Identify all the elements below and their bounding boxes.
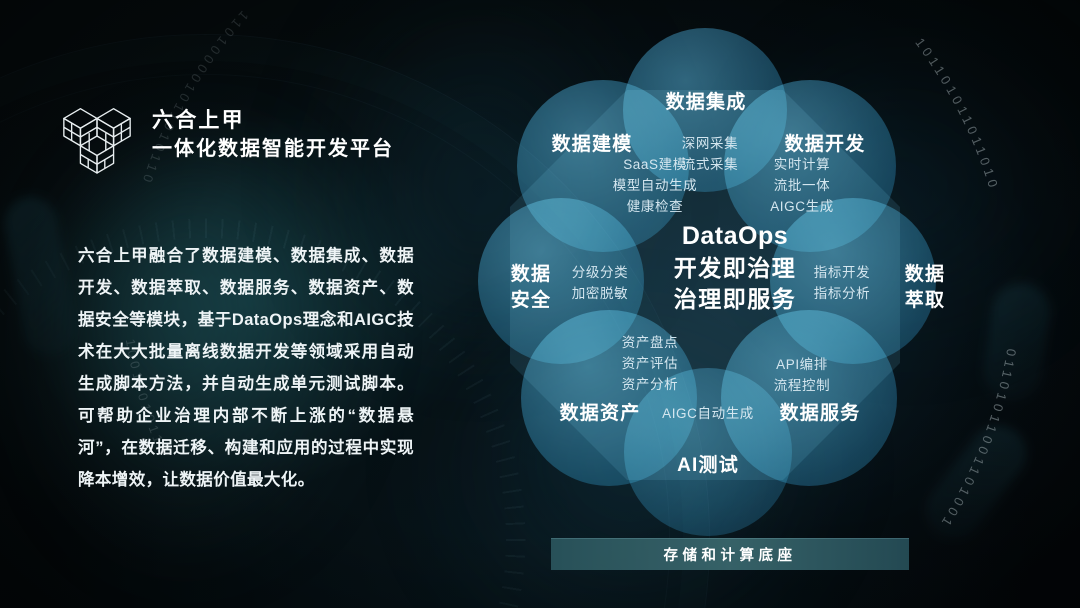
slide-canvas: 0110101101001100101101 11010000101101011… [0, 0, 1080, 608]
module-item: 资产分析 [600, 374, 700, 395]
storage-compute-foundation-bar: 存储和计算底座 [551, 538, 909, 570]
module-title-data-extraction: 数据萃取 [896, 262, 954, 314]
description-paragraph: 六合上甲融合了数据建模、数据集成、数据开发、数据萃取、数据服务、数据资产、数据安… [78, 240, 414, 496]
module-title-ai-testing: AI测试 [648, 453, 768, 479]
module-item: 模型自动生成 [600, 175, 710, 196]
module-title-data-service: 数据服务 [760, 401, 880, 427]
module-item: 资产盘点 [600, 332, 700, 353]
dataops-venn-diagram: 数据集成 数据建模 数据开发 数据安全 数据萃取 数据资产 数据服务 AI测试 … [460, 20, 1000, 550]
module-title-data-integration: 数据集成 [646, 90, 766, 116]
module-item: AIGC生成 [752, 196, 852, 217]
module-item: 流批一体 [752, 175, 852, 196]
isometric-brick-wall-icon [60, 97, 134, 175]
background-capsule-shape [1, 193, 80, 360]
module-item: 实时计算 [752, 154, 852, 175]
brand-tagline: 一体化数据智能开发平台 [152, 135, 394, 163]
module-item: AIGC自动生成 [650, 403, 766, 424]
footer-bar-label: 存储和计算底座 [664, 544, 797, 565]
module-items-data-asset: 资产盘点 资产评估 资产分析 [600, 332, 700, 395]
module-item: 资产评估 [600, 353, 700, 374]
brand-text: 六合上甲 一体化数据智能开发平台 [152, 107, 394, 165]
module-item: 健康检查 [600, 196, 710, 217]
core-title-en: DataOps [620, 220, 850, 253]
module-item: API编排 [752, 354, 852, 375]
core-line-2: 治理即服务 [620, 284, 850, 315]
module-title-data-security: 数据安全 [502, 262, 560, 314]
module-items-data-development: 实时计算 流批一体 AIGC生成 [752, 154, 852, 217]
core-line-1: 开发即治理 [620, 253, 850, 284]
module-items-ai-testing: AIGC自动生成 [650, 403, 766, 424]
module-item: 流程控制 [752, 375, 852, 396]
module-item: 深网采集 [655, 133, 765, 154]
module-items-data-modeling: SaaS建模 模型自动生成 健康检查 [600, 154, 710, 217]
module-title-data-asset: 数据资产 [540, 401, 660, 427]
brand-name: 六合上甲 [152, 107, 394, 135]
module-items-data-service: API编排 流程控制 [752, 354, 852, 396]
brand-block: 六合上甲 一体化数据智能开发平台 [60, 97, 394, 175]
diagram-core-label: DataOps 开发即治理 治理即服务 [620, 220, 850, 315]
module-item: SaaS建模 [600, 154, 710, 175]
